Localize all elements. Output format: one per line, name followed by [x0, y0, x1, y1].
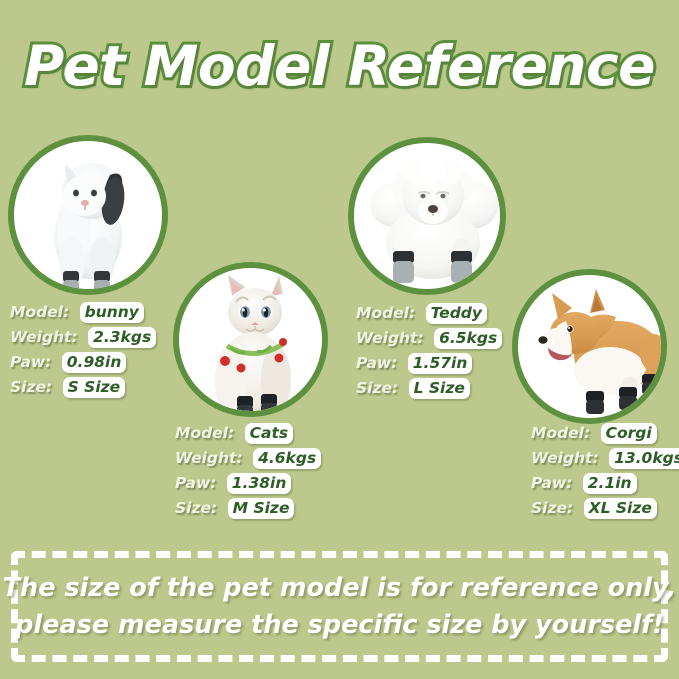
paw-value: 1.57in: [408, 353, 473, 374]
pet-weight-row: Weight: 6.5kgs: [356, 326, 502, 351]
bunny-illustration: [14, 141, 162, 289]
model-value: Teddy: [426, 303, 487, 324]
pet-model-row: Model: bunny: [10, 300, 156, 325]
paw-label: Paw:: [175, 474, 216, 492]
model-label: Model:: [175, 424, 234, 442]
model-value: bunny: [80, 302, 144, 323]
pet-size-row: Size: M Size: [175, 496, 321, 521]
paw-label: Paw:: [356, 354, 397, 372]
cat-illustration: [179, 268, 322, 411]
weight-value: 6.5kgs: [434, 328, 502, 349]
pet-info-cats: Model: Cats Weight: 4.6kgs Paw: 1.38in S…: [175, 421, 321, 521]
size-value: M Size: [228, 498, 295, 519]
paw-value: 0.98in: [62, 352, 127, 373]
pet-weight-row: Weight: 13.0kgs: [531, 446, 679, 471]
pet-photo-circle-bunny: [8, 135, 168, 295]
size-value: XL Size: [584, 498, 657, 519]
weight-label: Weight:: [175, 449, 243, 467]
bunny-photo: [14, 141, 162, 289]
model-label: Model:: [10, 303, 69, 321]
paw-value: 2.1in: [583, 473, 637, 494]
pet-photo-circle-corgi: [512, 269, 667, 424]
disclaimer-box: The size of the pet model is for referen…: [11, 551, 668, 662]
model-label: Model:: [531, 424, 590, 442]
pet-model-reference-infographic: Pet Model Reference: [0, 0, 679, 679]
weight-label: Weight:: [531, 449, 599, 467]
teddy-dog-illustration: [354, 143, 500, 289]
disclaimer-line-2: please measure the specific size by your…: [15, 607, 664, 644]
pet-paw-row: Paw: 1.57in: [356, 351, 502, 376]
model-value: Cats: [245, 423, 293, 444]
pet-model-row: Model: Teddy: [356, 301, 502, 326]
weight-label: Weight:: [10, 328, 78, 346]
pet-size-row: Size: L Size: [356, 376, 502, 401]
pet-info-bunny: Model: bunny Weight: 2.3kgs Paw: 0.98in …: [10, 300, 156, 400]
weight-label: Weight:: [356, 329, 424, 347]
model-label: Model:: [356, 304, 415, 322]
size-label: Size:: [175, 499, 217, 517]
pet-weight-row: Weight: 4.6kgs: [175, 446, 321, 471]
pet-paw-row: Paw: 2.1in: [531, 471, 679, 496]
size-value: L Size: [409, 378, 470, 399]
size-label: Size:: [10, 378, 52, 396]
pet-model-row: Model: Corgi: [531, 421, 679, 446]
pet-weight-row: Weight: 2.3kgs: [10, 325, 156, 350]
pet-info-teddy: Model: Teddy Weight: 6.5kgs Paw: 1.57in …: [356, 301, 502, 401]
corgi-illustration: [518, 275, 661, 418]
disclaimer-line-1: The size of the pet model is for referen…: [3, 570, 677, 607]
pet-paw-row: Paw: 0.98in: [10, 350, 156, 375]
pet-size-row: Size: S Size: [10, 375, 156, 400]
cat-photo: [179, 268, 322, 411]
pet-photo-circle-teddy: [348, 137, 506, 295]
model-value: Corgi: [601, 423, 657, 444]
pet-info-corgi: Model: Corgi Weight: 13.0kgs Paw: 2.1in …: [531, 421, 679, 521]
weight-value: 4.6kgs: [253, 448, 321, 469]
weight-value: 13.0kgs: [609, 448, 679, 469]
pet-photo-circle-cats: [173, 262, 328, 417]
paw-label: Paw:: [10, 353, 51, 371]
page-title: Pet Model Reference: [0, 34, 679, 98]
paw-label: Paw:: [531, 474, 572, 492]
teddy-dog-photo: [354, 143, 500, 289]
size-value: S Size: [63, 377, 126, 398]
pet-model-row: Model: Cats: [175, 421, 321, 446]
pet-size-row: Size: XL Size: [531, 496, 679, 521]
corgi-photo: [518, 275, 661, 418]
pet-paw-row: Paw: 1.38in: [175, 471, 321, 496]
size-label: Size:: [356, 379, 398, 397]
weight-value: 2.3kgs: [88, 327, 156, 348]
paw-value: 1.38in: [227, 473, 292, 494]
size-label: Size:: [531, 499, 573, 517]
